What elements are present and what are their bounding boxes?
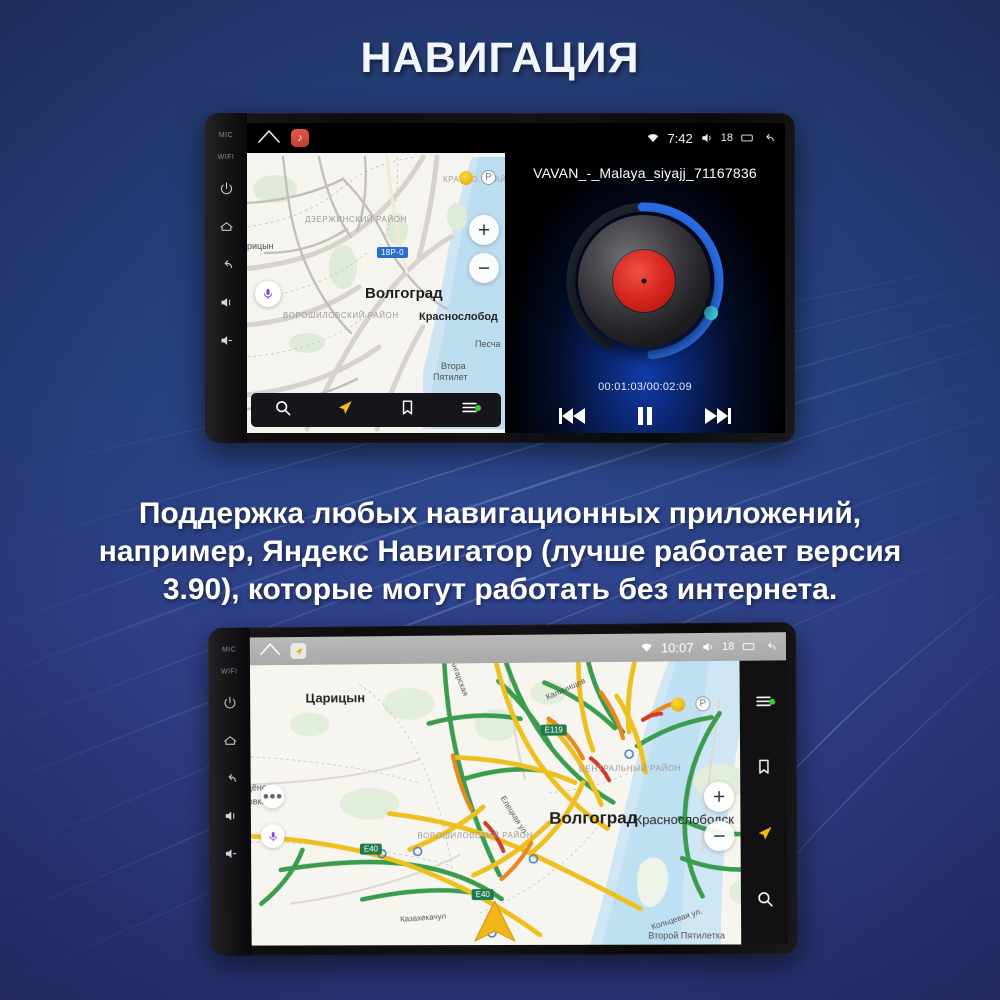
map-district-label-2: ВОРОШИЛОВСКИЙ РАЙОН: [283, 311, 393, 320]
home-icon[interactable]: [259, 641, 282, 661]
map-label-vtoraya: Втора: [441, 361, 466, 371]
head-unit-device-bottom: MIC WIFI 10:07: [208, 622, 798, 956]
bezel-label-wifi: WIFI: [218, 147, 235, 169]
pause-button[interactable]: [630, 403, 660, 433]
road-badge-e119: E119: [541, 724, 567, 735]
bezel-label-mic: MIC: [219, 125, 233, 147]
device-one-statusbar: 7:42 18: [646, 131, 775, 146]
recents-icon: [741, 640, 755, 654]
map-label-vtoraya-pyatiletka: Второй Пятилетка: [648, 930, 725, 940]
navigator-app-icon[interactable]: [290, 643, 306, 659]
device-left-bezel: MIC WIFI: [208, 628, 251, 956]
progress-knob: [704, 306, 718, 320]
map-label-pyatiletka: Пятилет: [433, 372, 468, 382]
track-title: VAVAN_-_Malaya_siyajj_71167836: [505, 165, 785, 181]
parking-icon[interactable]: P: [481, 170, 496, 185]
previous-track-button[interactable]: [559, 403, 589, 433]
bookmark-icon[interactable]: [398, 398, 417, 422]
head-unit-device-top: MIC WIFI ♪ 7:42 18: [205, 113, 795, 443]
next-track-button[interactable]: [701, 403, 731, 433]
search-icon[interactable]: [273, 398, 292, 422]
home-icon[interactable]: [205, 207, 247, 245]
recents-icon: [740, 131, 754, 145]
map-pane-one[interactable]: ДЗЕРЖИНСКИЙ РАЙОН КРАСНО... РАЙОН ВОРОШИ…: [247, 153, 505, 433]
back-icon[interactable]: [209, 759, 251, 797]
device-left-bezel: MIC WIFI: [205, 113, 247, 443]
caption-text: Поддержка любых навигационных приложений…: [60, 495, 940, 609]
power-icon[interactable]: [205, 169, 247, 207]
parking-icon[interactable]: P: [695, 696, 710, 711]
wifi-icon: [640, 640, 654, 654]
volume-up-icon[interactable]: [209, 796, 251, 834]
map-zoom-controls: + −: [469, 215, 499, 283]
back-icon[interactable]: [205, 245, 247, 283]
map-label-tsaritsyn: рицын: [247, 241, 276, 251]
player-controls: [505, 403, 785, 433]
map-town-label: Краснослобод: [419, 311, 498, 323]
menu-notification-dot: [475, 405, 481, 411]
volume-up-icon[interactable]: [205, 283, 247, 321]
road-badge-e40-a: E40: [360, 844, 382, 855]
search-icon[interactable]: [755, 889, 774, 913]
bookmark-icon[interactable]: [754, 757, 773, 781]
device-one-screen: ♪ 7:42 18: [247, 123, 785, 433]
voice-search-button[interactable]: [255, 281, 281, 307]
map-district-central: ЦЕНТРАЛЬНЫЙ РАЙОН: [579, 764, 659, 774]
map-bottom-toolbar: [251, 393, 501, 427]
zoom-in-button[interactable]: +: [704, 782, 734, 812]
chat-bubble-button[interactable]: ●●●: [261, 784, 285, 808]
voice-search-button[interactable]: [261, 824, 285, 848]
device-two-screen: 10:07 18: [250, 632, 788, 945]
map-district-voroshilovsky: ВОРОШИЛОВСКИЙ РАЙОН: [417, 831, 507, 840]
device-two-statusbar: 10:07 18: [640, 639, 777, 655]
volume-down-icon[interactable]: [205, 321, 247, 359]
disc-spindle: [642, 279, 647, 284]
volume-icon: [701, 640, 715, 654]
page-title: НАВИГАЦИЯ: [0, 34, 1000, 83]
volume-down-icon[interactable]: [210, 834, 252, 872]
bezel-label-mic: MIC: [222, 640, 236, 662]
status-volume: 18: [722, 641, 734, 653]
status-time: 10:07: [661, 640, 694, 655]
wifi-icon: [646, 131, 660, 145]
back-icon: [761, 131, 775, 145]
zoom-out-button[interactable]: −: [469, 253, 499, 283]
menu-notification-dot: [769, 698, 775, 704]
map-right-rail: [739, 660, 787, 944]
volume-icon: [700, 131, 714, 145]
power-icon[interactable]: [209, 683, 251, 721]
playback-time: 00:01:03/00:02:09: [505, 381, 785, 393]
map-city-label: Волгоград: [365, 285, 443, 302]
album-art-disc: [578, 215, 710, 347]
status-time: 7:42: [667, 131, 692, 146]
music-app-icon[interactable]: ♪: [291, 129, 309, 147]
map-pane-two[interactable]: Царицын дёно- новка ЦЕНТРАЛЬНЫЙ РАЙОН ВО…: [250, 660, 788, 945]
device-one-topbar: ♪ 7:42 18: [247, 123, 785, 153]
bezel-label-wifi: WIFI: [221, 661, 238, 683]
status-volume: 18: [721, 132, 733, 144]
microphone-icon: [267, 831, 278, 842]
navigate-arrow-icon[interactable]: [335, 398, 354, 422]
poi-marker-icon[interactable]: [459, 171, 473, 185]
music-player-pane[interactable]: VAVAN_-_Malaya_siyajj_71167836 00:01:03/…: [505, 153, 785, 433]
poi-marker-icon[interactable]: [671, 697, 685, 711]
navigate-arrow-icon[interactable]: [754, 823, 773, 847]
vinyl-visualizer: [556, 201, 734, 371]
navigation-cursor-icon: [468, 895, 522, 946]
map-city-label: Волгоград: [549, 808, 637, 829]
microphone-icon: [262, 288, 274, 300]
map-zoom-controls: + −: [704, 782, 735, 852]
back-icon: [763, 639, 777, 653]
menu-icon[interactable]: [460, 398, 479, 422]
home-icon[interactable]: [209, 721, 251, 759]
home-icon[interactable]: [257, 128, 281, 149]
menu-icon[interactable]: [753, 691, 772, 715]
zoom-out-button[interactable]: −: [704, 821, 734, 851]
road-badge: 18Р-0: [377, 247, 408, 258]
map-district-label-1: ДЗЕРЖИНСКИЙ РАЙОН: [305, 215, 403, 224]
map-label-tsaritsyn: Царицын: [305, 690, 365, 705]
map-label-peschanka: Песча: [475, 339, 501, 349]
zoom-in-button[interactable]: +: [469, 215, 499, 245]
